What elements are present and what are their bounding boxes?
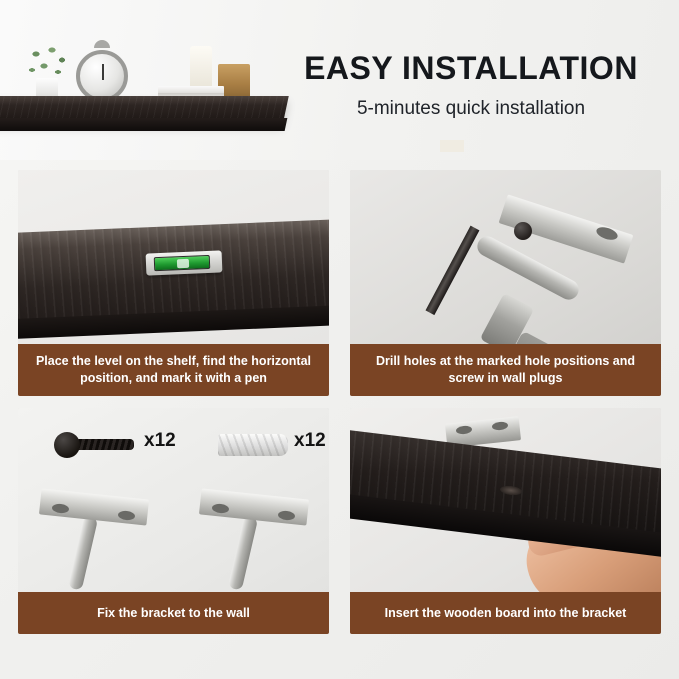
screw-head	[514, 222, 532, 240]
wall-plug-quantity-label: x12	[294, 430, 326, 452]
desk-clock-decor	[76, 50, 128, 102]
step-3-caption: Fix the bracket to the wall	[18, 592, 329, 634]
step-card-1: Place the level on the shelf, find the h…	[18, 170, 329, 396]
step-card-3: x12 x12 Fix the bracket t	[18, 408, 329, 634]
step-card-2: Drill holes at the marked hole positions…	[350, 170, 661, 396]
screw-head	[54, 432, 80, 458]
step-1-caption: Place the level on the shelf, find the h…	[18, 344, 329, 396]
header-text-block: EASY INSTALLATION 5-minutes quick instal…	[271, 52, 671, 120]
screw-quantity-label: x12	[144, 430, 176, 452]
wall-plug-ribs	[218, 434, 288, 456]
header-banner: EASY INSTALLATION 5-minutes quick instal…	[0, 0, 679, 160]
product-infographic: EASY INSTALLATION 5-minutes quick instal…	[0, 0, 679, 679]
step-2-caption: Drill holes at the marked hole positions…	[350, 344, 661, 396]
wall-plug	[218, 434, 288, 456]
bracket-rod	[228, 515, 258, 590]
bracket-right	[196, 488, 314, 598]
spirit-level-tool	[146, 250, 223, 275]
bracket-left	[36, 488, 154, 598]
bracket-rod	[68, 515, 98, 590]
clock-bell-top-decor	[94, 40, 110, 48]
page-subtitle: 5-minutes quick installation	[271, 98, 671, 120]
step-4-caption: Insert the wooden board into the bracket	[350, 592, 661, 634]
shelf-board-front-edge	[0, 118, 287, 131]
screw-shank	[76, 439, 134, 450]
pillar-candle-decor	[190, 46, 212, 88]
installation-steps-grid: Place the level on the shelf, find the h…	[18, 170, 661, 634]
level-vial	[154, 255, 211, 271]
step-card-4: Insert the wooden board into the bracket	[350, 408, 661, 634]
level-bubble	[177, 259, 189, 268]
candle-jar-label	[440, 140, 464, 152]
hero-shelf-photo	[0, 0, 300, 160]
page-title: EASY INSTALLATION	[271, 52, 671, 86]
